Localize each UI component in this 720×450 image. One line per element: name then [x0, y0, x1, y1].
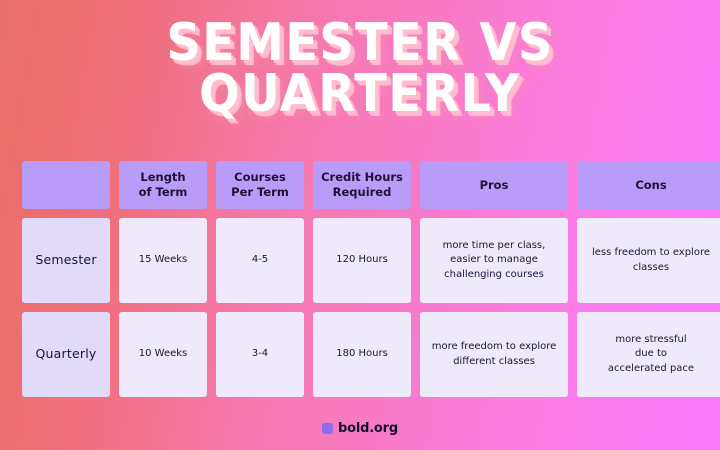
semester-pros: more time per class, easier to manage ch…: [420, 218, 568, 303]
semester-pros-line1: more time per class,: [443, 239, 546, 254]
semester-pros-line2: easier to manage: [443, 253, 546, 268]
brand-name: bold.org: [338, 421, 398, 436]
semester-courses-per-term: 4-5: [216, 218, 304, 303]
header-length-line1: Length: [139, 170, 188, 185]
quarterly-length-of-term: 10 Weeks: [119, 312, 207, 397]
comparison-table: Length of Term Courses Per Term Credit H…: [22, 161, 698, 397]
quarterly-cons-line1: more stressful: [608, 333, 694, 348]
semester-length-of-term: 15 Weeks: [119, 218, 207, 303]
table-header-courses-per-term: Courses Per Term: [216, 161, 304, 209]
quarterly-pros-line2: different classes: [432, 355, 557, 370]
page-title: SEMESTER VS QUARTERLY: [0, 18, 720, 120]
quarterly-cons: more stressful due to accelerated pace: [577, 312, 720, 397]
table-header-cons: Cons: [577, 161, 720, 209]
table-header-pros: Pros: [420, 161, 568, 209]
quarterly-courses-per-term: 3-4: [216, 312, 304, 397]
row-label-semester: Semester: [22, 218, 110, 303]
header-courses-line1: Courses: [231, 170, 289, 185]
row-label-quarterly: Quarterly: [22, 312, 110, 397]
quarterly-pros: more freedom to explore different classe…: [420, 312, 568, 397]
table-header-credit-hours-required: Credit Hours Required: [313, 161, 411, 209]
semester-credit-hours-required: 120 Hours: [313, 218, 411, 303]
header-credit-line1: Credit Hours: [321, 170, 403, 185]
title-line-2: QUARTERLY: [66, 69, 655, 120]
semester-cons-line1: less freedom to explore: [592, 246, 710, 261]
quarterly-cons-line3: accelerated pace: [608, 362, 694, 377]
quarterly-cons-line2: due to: [608, 347, 694, 362]
header-credit-line2: Required: [321, 185, 403, 200]
quarterly-credit-hours-required: 180 Hours: [313, 312, 411, 397]
table-row: Quarterly 10 Weeks 3-4 180 Hours more fr…: [22, 312, 698, 397]
semester-cons: less freedom to explore classes: [577, 218, 720, 303]
title-line-1: SEMESTER VS: [66, 18, 655, 69]
poster-canvas: SEMESTER VS QUARTERLY Length of Term Cou…: [0, 0, 720, 450]
header-courses-line2: Per Term: [231, 185, 289, 200]
table-row: Semester 15 Weeks 4-5 120 Hours more tim…: [22, 218, 698, 303]
semester-pros-line3: challenging courses: [443, 268, 546, 283]
semester-cons-line2: classes: [592, 261, 710, 276]
footer-branding: bold.org: [0, 421, 720, 436]
table-header-corner: [22, 161, 110, 209]
table-header-row: Length of Term Courses Per Term Credit H…: [22, 161, 698, 209]
bold-logo-square-icon: [322, 423, 333, 434]
quarterly-pros-line1: more freedom to explore: [432, 340, 557, 355]
header-length-line2: of Term: [139, 185, 188, 200]
table-header-length-of-term: Length of Term: [119, 161, 207, 209]
